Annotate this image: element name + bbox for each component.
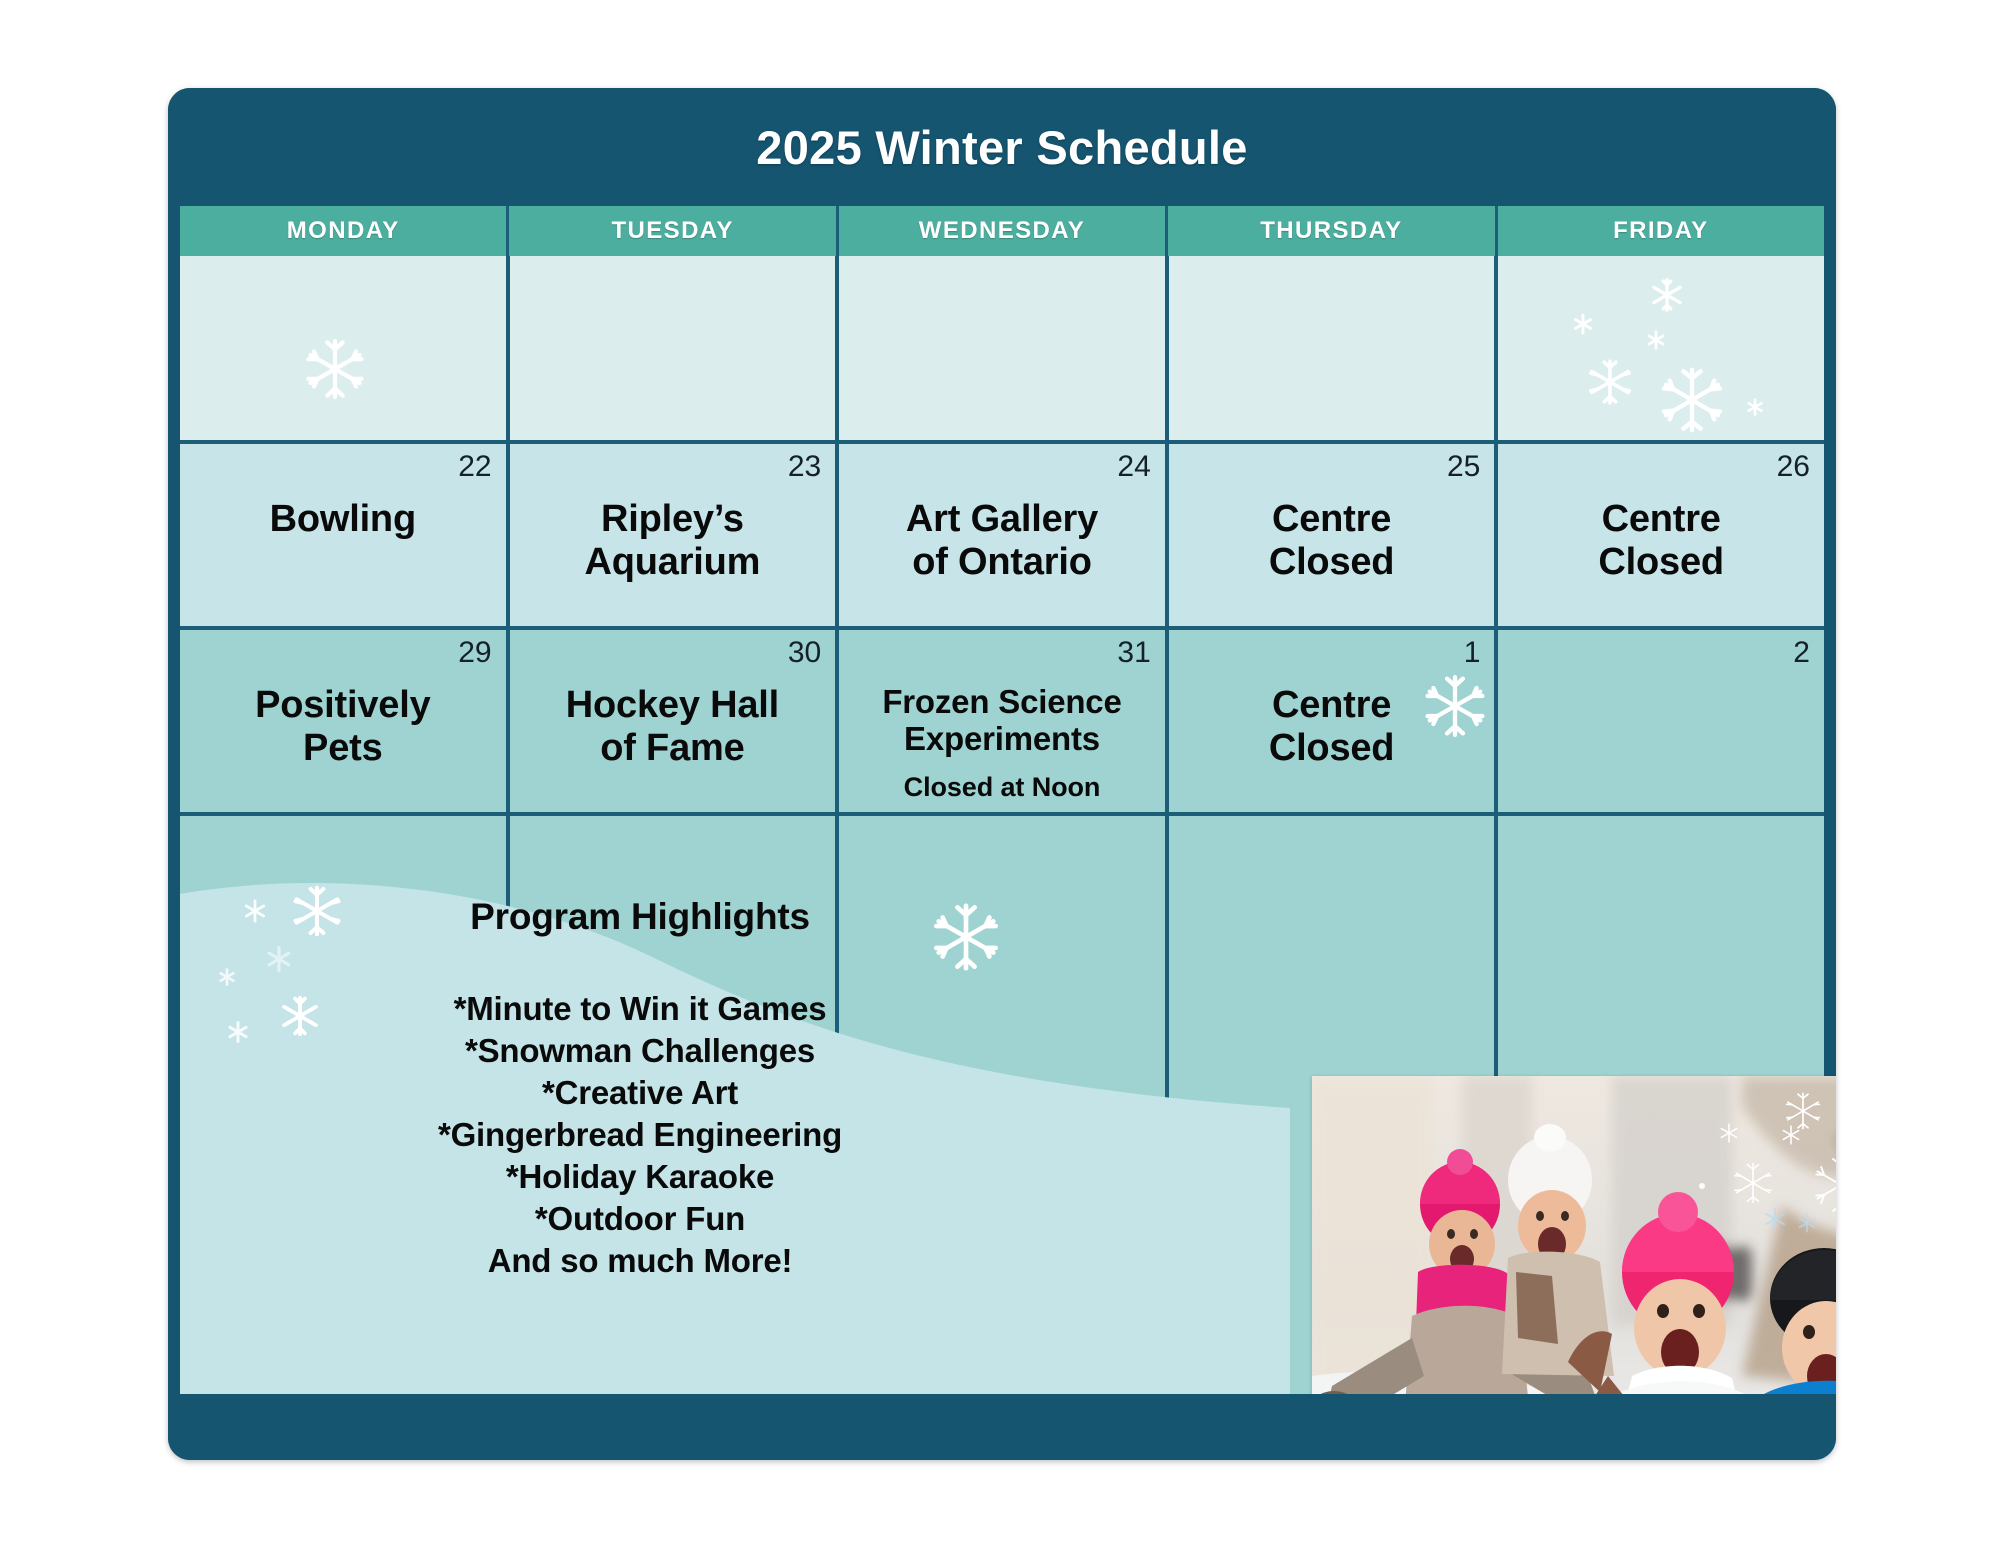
event-title: Ripley’s Aquarium: [585, 498, 761, 583]
page-title: 2025 Winter Schedule: [756, 120, 1247, 175]
day-cell-body: Hockey Hall of Fame: [510, 676, 836, 806]
day-cell-body: Centre Closed: [1498, 490, 1824, 620]
weekday-header-thursday: THURSDAY: [1168, 206, 1497, 256]
snowflake-icon: [1644, 328, 1668, 357]
day-cell-body: Ripley’s Aquarium: [510, 490, 836, 620]
day-cell[interactable]: [180, 256, 510, 444]
event-title: Hockey Hall of Fame: [566, 684, 779, 769]
snowflake-icon: [1570, 311, 1596, 342]
weekday-label: THURSDAY: [1260, 217, 1402, 245]
week-row-3: 29 Positively Pets 30 Hockey Hall of Fam…: [180, 630, 1824, 816]
date-number: 2: [1793, 636, 1810, 670]
day-cell[interactable]: [839, 816, 1169, 1394]
date-number: 29: [458, 636, 491, 670]
day-cell[interactable]: 29 Positively Pets: [180, 630, 510, 816]
weekday-label: TUESDAY: [611, 217, 733, 245]
snowflake-icon: [300, 334, 370, 409]
week-row-2: 22 Bowling 23 Ripley’s Aquarium 24 Art G…: [180, 444, 1824, 630]
snowflake-icon: [1584, 356, 1636, 413]
day-cell-body: Art Gallery of Ontario: [839, 490, 1165, 620]
schedule-card: 2025 Winter Schedule MONDAY TUESDAY WEDN…: [168, 88, 1836, 1460]
date-number: 1: [1464, 636, 1481, 670]
day-cell[interactable]: 2: [1498, 630, 1824, 816]
day-cell[interactable]: [510, 816, 840, 1394]
date-number: 24: [1117, 450, 1150, 484]
day-cell-body: Centre Closed: [1169, 676, 1495, 806]
day-cell-body: Frozen Science Experiments Closed at Noo…: [839, 676, 1165, 806]
day-cell-body: Centre Closed: [1169, 490, 1495, 620]
weekday-label: MONDAY: [287, 217, 400, 245]
footer-bar: [168, 1394, 1836, 1460]
date-number: 30: [788, 636, 821, 670]
weekday-header-friday: FRIDAY: [1498, 206, 1824, 256]
calendar-grid: MONDAY TUESDAY WEDNESDAY THURSDAY FRIDAY: [180, 206, 1824, 1394]
event-title: Centre Closed: [1598, 498, 1724, 583]
snowflake-icon: [1646, 274, 1688, 321]
snowflake-icon: [1744, 396, 1766, 423]
day-cell[interactable]: [1498, 256, 1824, 444]
day-cell[interactable]: [510, 256, 840, 444]
day-cell[interactable]: 1 Centre Closed: [1169, 630, 1499, 816]
snowflake-icon: [1656, 364, 1728, 441]
day-cell[interactable]: 25 Centre Closed: [1169, 444, 1499, 630]
day-cell-body: Positively Pets: [180, 676, 506, 806]
day-cell[interactable]: 30 Hockey Hall of Fame: [510, 630, 840, 816]
event-title: Frozen Science Experiments: [882, 684, 1121, 758]
weekday-header-row: MONDAY TUESDAY WEDNESDAY THURSDAY FRIDAY: [180, 206, 1824, 256]
day-cell[interactable]: 23 Ripley’s Aquarium: [510, 444, 840, 630]
day-cell[interactable]: [839, 256, 1169, 444]
date-number: 22: [458, 450, 491, 484]
weekday-label: WEDNESDAY: [919, 217, 1085, 245]
date-number: 31: [1117, 636, 1150, 670]
day-cell[interactable]: [180, 816, 510, 1394]
winter-schedule-page: 2025 Winter Schedule MONDAY TUESDAY WEDN…: [0, 0, 2000, 1545]
event-title: Bowling: [270, 498, 416, 541]
title-bar: 2025 Winter Schedule: [168, 88, 1836, 206]
date-number: 25: [1447, 450, 1480, 484]
day-cell[interactable]: 22 Bowling: [180, 444, 510, 630]
weekday-header-wednesday: WEDNESDAY: [839, 206, 1168, 256]
snowflake-icon: [927, 898, 1005, 981]
day-cell[interactable]: [1169, 256, 1499, 444]
event-title: Centre Closed: [1269, 684, 1395, 769]
weekday-header-monday: MONDAY: [180, 206, 509, 256]
weekday-label: FRIDAY: [1613, 217, 1709, 245]
day-cell[interactable]: 24 Art Gallery of Ontario: [839, 444, 1169, 630]
day-cell[interactable]: 26 Centre Closed: [1498, 444, 1824, 630]
week-row-1: [180, 256, 1824, 444]
day-cell[interactable]: 31 Frozen Science Experiments Closed at …: [839, 630, 1169, 816]
date-number: 23: [788, 450, 821, 484]
weekday-header-tuesday: TUESDAY: [509, 206, 838, 256]
date-number: 26: [1777, 450, 1810, 484]
day-cell-body: [1498, 676, 1824, 806]
event-title: Positively Pets: [255, 684, 430, 769]
event-title: Art Gallery of Ontario: [906, 498, 1098, 583]
event-title: Centre Closed: [1269, 498, 1395, 583]
day-cell-body: Bowling: [180, 490, 506, 620]
event-note: Closed at Noon: [904, 772, 1101, 803]
